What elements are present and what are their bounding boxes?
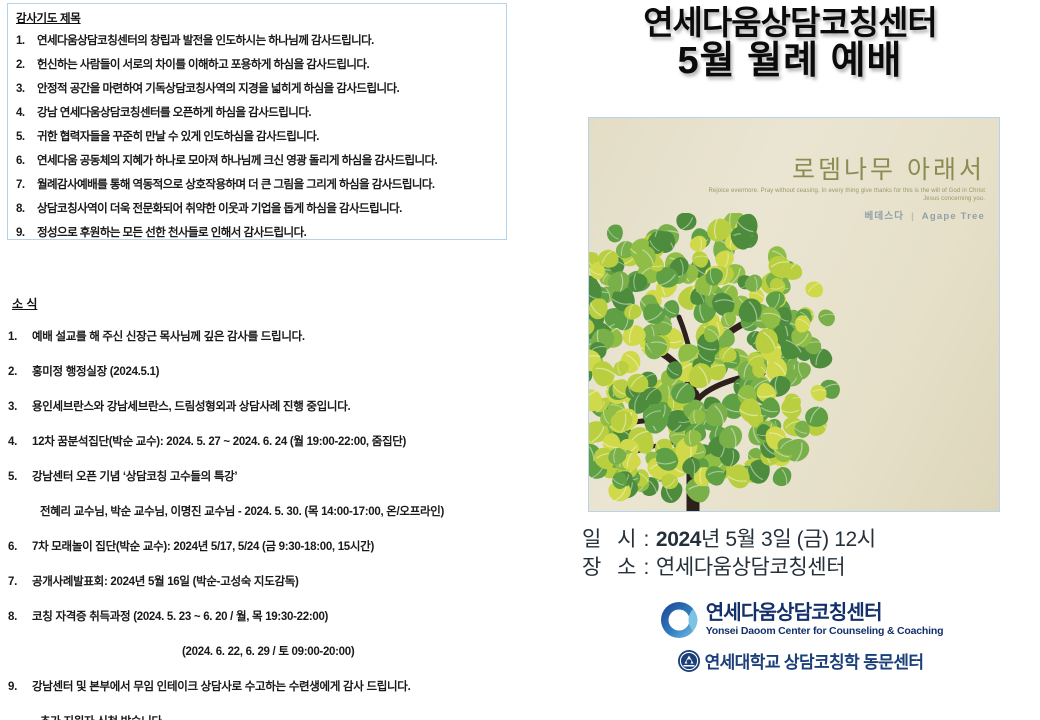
news-item: (2024. 6. 22, 6. 29 / 토 09:00-20:00) bbox=[8, 635, 533, 670]
news-item-text: (2024. 6. 22, 6. 29 / 토 09:00-20:00) bbox=[32, 635, 533, 670]
center-logo: 연세다움상담코칭센터 Yonsei Daoom Center for Couns… bbox=[590, 600, 1010, 640]
news-item: 8.코칭 자격증 취득과정 (2024. 5. 23 ~ 6. 20 / 월, … bbox=[8, 600, 533, 635]
swirl-logo-icon bbox=[657, 600, 701, 640]
artwork-korean-title: 로뎀나무 아래서 bbox=[695, 156, 985, 184]
artwork-signature-ko: 베데스다 bbox=[864, 211, 904, 222]
university-seal-icon bbox=[677, 649, 701, 673]
news-list: 1.예배 설교를 해 주신 신장근 목사님께 깊은 감사를 드립니다.2.홍미정… bbox=[8, 320, 533, 720]
right-column: 연세다움상담코칭센터 5월 월례 예배 bbox=[540, 0, 1040, 720]
artwork-signature-en: Agape Tree bbox=[922, 211, 985, 222]
prayer-topic-text: 강남 연세다움상담코칭센터를 오픈하게 하심을 감사드립니다. bbox=[37, 101, 498, 125]
artwork-canvas: 로뎀나무 아래서 Rejoice evermore. Pray without … bbox=[589, 118, 999, 511]
bulletin-page: 감사기도 제목 1.연세다움상담코칭센터의 창립과 발전을 인도하시는 하나님께… bbox=[0, 0, 1040, 720]
center-logo-text: 연세다움상담코칭센터 Yonsei Daoom Center for Couns… bbox=[706, 603, 944, 638]
prayer-topic-number: 1. bbox=[16, 29, 37, 53]
news-item-number: 6. bbox=[8, 530, 32, 565]
prayer-topic-item: 5.귀한 협력자들을 꾸준히 만날 수 있게 인도하심을 감사드립니다. bbox=[16, 125, 498, 149]
prayer-topic-text: 연세다움 공동체의 지혜가 하나로 모아져 하나님께 크신 영광 돌리게 하심을… bbox=[37, 149, 498, 173]
news-item-text: 공개사례발표회: 2024년 5월 16일 (박순-고성숙 지도감독) bbox=[32, 565, 533, 600]
artwork-english-verse: Rejoice evermore. Pray without ceasing. … bbox=[695, 187, 985, 204]
news-item: 4.12차 꿈분석집단(박순 교수): 2024. 5. 27 ~ 2024. … bbox=[8, 425, 533, 460]
prayer-topic-number: 2. bbox=[16, 53, 37, 77]
prayer-topic-text: 월례감사예배를 통해 역동적으로 상호작용하며 더 큰 그림을 그리게 하심을 … bbox=[37, 173, 498, 197]
prayer-topics-box: 감사기도 제목 1.연세다움상담코칭센터의 창립과 발전을 인도하시는 하나님께… bbox=[7, 3, 507, 240]
prayer-topic-text: 정성으로 후원하는 모든 선한 천사들로 인해서 감사드립니다. bbox=[37, 221, 498, 245]
prayer-topic-text: 안정적 공간을 마련하여 기독상담코칭사역의 지경을 넓히게 하심을 감사드립니… bbox=[37, 77, 498, 101]
prayer-topic-text: 상담코칭사역이 더욱 전문화되어 취약한 이웃과 기업을 돕게 하심을 감사드립… bbox=[37, 197, 498, 221]
news-item-number: 5. bbox=[8, 460, 32, 495]
event-date-row: 일 시 : 2024년 5월 3일 (금) 12시 bbox=[582, 523, 1002, 551]
news-item: 추가 지원자 신청 받습니다. bbox=[8, 705, 533, 720]
news-item-text: 12차 꿈분석집단(박순 교수): 2024. 5. 27 ~ 2024. 6.… bbox=[32, 425, 533, 460]
prayer-topic-number: 4. bbox=[16, 101, 37, 125]
news-item-text: 코칭 자격증 취득과정 (2024. 5. 23 ~ 6. 20 / 월, 목 … bbox=[32, 600, 533, 635]
prayer-topic-item: 9.정성으로 후원하는 모든 선한 천사들로 인해서 감사드립니다. bbox=[16, 221, 498, 245]
event-date-colon: : bbox=[641, 528, 655, 552]
event-place-colon: : bbox=[641, 556, 655, 580]
news-item-number: 4. bbox=[8, 425, 32, 460]
artwork-signature: 베데스다 | Agape Tree bbox=[695, 208, 985, 222]
news-item-text: 예배 설교를 해 주신 신장근 목사님께 깊은 감사를 드립니다. bbox=[32, 320, 533, 355]
news-item: 전혜리 교수님, 박순 교수님, 이명진 교수님 - 2024. 5. 30. … bbox=[8, 495, 533, 530]
event-date-label: 일 시 bbox=[582, 523, 641, 553]
news-item: 7.공개사례발표회: 2024년 5월 16일 (박순-고성숙 지도감독) bbox=[8, 565, 533, 600]
tree-illustration-icon bbox=[588, 213, 881, 512]
news-item-number: 8. bbox=[8, 600, 32, 635]
prayer-topics-heading: 감사기도 제목 bbox=[16, 10, 498, 26]
news-item: 3.용인세브란스와 강남세브란스, 드림성형외과 상담사례 진행 중입니다. bbox=[8, 390, 533, 425]
artwork-signature-separator: | bbox=[908, 211, 918, 222]
center-logo-korean: 연세다움상담코칭센터 bbox=[706, 603, 944, 624]
prayer-topic-item: 7.월례감사예배를 통해 역동적으로 상호작용하며 더 큰 그림을 그리게 하심… bbox=[16, 173, 498, 197]
center-logo-english: Yonsei Daoom Center for Counseling & Coa… bbox=[706, 625, 944, 638]
prayer-topic-number: 6. bbox=[16, 149, 37, 173]
prayer-topic-text: 연세다움상담코칭센터의 창립과 발전을 인도하시는 하나님께 감사드립니다. bbox=[37, 29, 498, 53]
event-place-value: 연세다움상담코칭센터 bbox=[656, 551, 845, 581]
prayer-topic-item: 2.헌신하는 사람들이 서로의 차이를 이해하고 포용하게 하심을 감사드립니다… bbox=[16, 53, 498, 77]
news-item: 1.예배 설교를 해 주신 신장근 목사님께 깊은 감사를 드립니다. bbox=[8, 320, 533, 355]
news-item-text: 강남센터 오픈 기념 ‘상담코칭 고수들의 특강’ bbox=[32, 460, 533, 495]
event-place-label: 장 소 bbox=[582, 551, 641, 581]
news-item: 6.7차 모래놀이 집단(박순 교수): 2024년 5/17, 5/24 (금… bbox=[8, 530, 533, 565]
news-item-number: 1. bbox=[8, 320, 32, 355]
news-item-text: 홍미정 행정실장 (2024.5.1) bbox=[32, 355, 533, 390]
logo-block: 연세다움상담코칭센터 Yonsei Daoom Center for Couns… bbox=[590, 600, 1010, 673]
artwork-text-block: 로뎀나무 아래서 Rejoice evermore. Pray without … bbox=[695, 156, 985, 222]
left-column: 감사기도 제목 1.연세다움상담코칭센터의 창립과 발전을 인도하시는 하나님께… bbox=[0, 0, 540, 720]
prayer-topic-number: 8. bbox=[16, 197, 37, 221]
page-title-line2: 5월 월례 예배 bbox=[540, 42, 1040, 82]
news-item-number: 7. bbox=[8, 565, 32, 600]
prayer-topic-item: 3.안정적 공간을 마련하여 기독상담코칭사역의 지경을 넓히게 하심을 감사드… bbox=[16, 77, 498, 101]
news-heading: 소 식 bbox=[12, 295, 37, 312]
prayer-topic-text: 헌신하는 사람들이 서로의 차이를 이해하고 포용하게 하심을 감사드립니다. bbox=[37, 53, 498, 77]
news-item-text: 추가 지원자 신청 받습니다. bbox=[32, 705, 533, 720]
prayer-topic-item: 4.강남 연세다움상담코칭센터를 오픈하게 하심을 감사드립니다. bbox=[16, 101, 498, 125]
news-item-text: 강남센터 및 본부에서 무임 인테이크 상담사로 수고하는 수련생에게 감사 드… bbox=[32, 670, 533, 705]
prayer-topic-number: 9. bbox=[16, 221, 37, 245]
news-item: 2.홍미정 행정실장 (2024.5.1) bbox=[8, 355, 533, 390]
news-item-text: 전혜리 교수님, 박순 교수님, 이명진 교수님 - 2024. 5. 30. … bbox=[32, 495, 533, 530]
news-item: 9.강남센터 및 본부에서 무임 인테이크 상담사로 수고하는 수련생에게 감사… bbox=[8, 670, 533, 705]
prayer-topic-number: 7. bbox=[16, 173, 37, 197]
news-item-number: 3. bbox=[8, 390, 32, 425]
prayer-topic-item: 8.상담코칭사역이 더욱 전문화되어 취약한 이웃과 기업을 돕게 하심을 감사… bbox=[16, 197, 498, 221]
news-item-number: 9. bbox=[8, 670, 32, 705]
alumni-center-label: 연세대학교 상담코칭학 동문센터 bbox=[705, 648, 924, 673]
news-item-text: 용인세브란스와 강남세브란스, 드림성형외과 상담사례 진행 중입니다. bbox=[32, 390, 533, 425]
prayer-topics-list: 1.연세다움상담코칭센터의 창립과 발전을 인도하시는 하나님께 감사드립니다.… bbox=[16, 29, 498, 245]
news-item: 5.강남센터 오픈 기념 ‘상담코칭 고수들의 특강’ bbox=[8, 460, 533, 495]
page-title-line1: 연세다움상담코칭센터 bbox=[540, 6, 1040, 40]
news-item-text: 7차 모래놀이 집단(박순 교수): 2024년 5/17, 5/24 (금 9… bbox=[32, 530, 533, 565]
prayer-topic-item: 6.연세다움 공동체의 지혜가 하나로 모아져 하나님께 크신 영광 돌리게 하… bbox=[16, 149, 498, 173]
prayer-topic-item: 1.연세다움상담코칭센터의 창립과 발전을 인도하시는 하나님께 감사드립니다. bbox=[16, 29, 498, 53]
alumni-center-logo: 연세대학교 상담코칭학 동문센터 bbox=[590, 648, 1010, 673]
event-place-row: 장 소 : 연세다움상담코칭센터 bbox=[582, 551, 1002, 579]
agape-tree-artwork: 로뎀나무 아래서 Rejoice evermore. Pray without … bbox=[588, 117, 1000, 512]
prayer-topic-number: 5. bbox=[16, 125, 37, 149]
event-info: 일 시 : 2024년 5월 3일 (금) 12시 장 소 : 연세다움상담코칭… bbox=[582, 523, 1002, 579]
news-item-number: 2. bbox=[8, 355, 32, 390]
event-date-rest: 년 5월 3일 (금) 12시 bbox=[701, 528, 876, 551]
event-date-year: 2024 bbox=[656, 528, 701, 551]
prayer-topic-text: 귀한 협력자들을 꾸준히 만날 수 있게 인도하심을 감사드립니다. bbox=[37, 125, 498, 149]
prayer-topic-number: 3. bbox=[16, 77, 37, 101]
event-date-value: 2024년 5월 3일 (금) 12시 bbox=[656, 523, 876, 553]
